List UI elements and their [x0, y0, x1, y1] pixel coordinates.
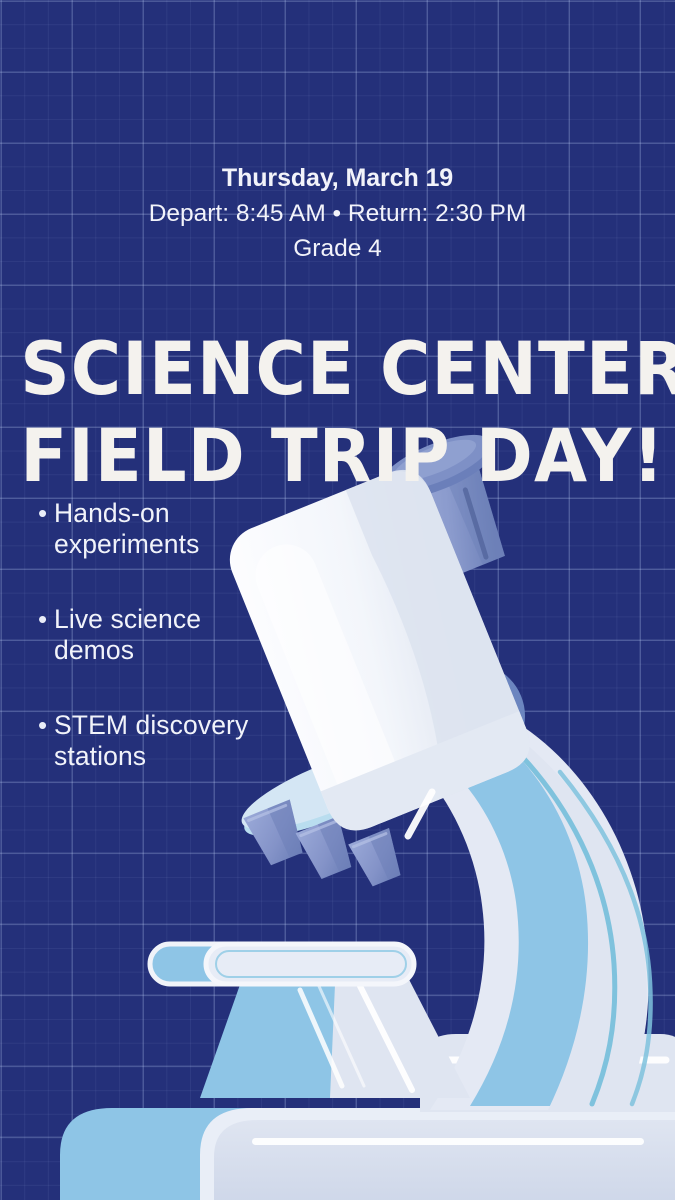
list-item-label: STEM discovery stations: [54, 710, 288, 772]
page-title-line-1: SCIENCE CENTER: [20, 326, 655, 413]
trip-grade: Grade 4: [0, 232, 675, 266]
bullet-icon: •: [38, 710, 54, 741]
poster-text-layer: Thursday, March 19 Depart: 8:45 AM • Ret…: [0, 0, 675, 1200]
trip-meta-block: Thursday, March 19 Depart: 8:45 AM • Ret…: [0, 162, 675, 266]
page-title-line-2: FIELD TRIP DAY!: [20, 413, 655, 500]
list-item: • Hands-on experiments: [38, 498, 288, 560]
list-item-label: Live science demos: [54, 604, 288, 666]
bullet-icon: •: [38, 498, 54, 529]
poster-canvas: Thursday, March 19 Depart: 8:45 AM • Ret…: [0, 0, 675, 1200]
bullet-icon: •: [38, 604, 54, 635]
list-item: • Live science demos: [38, 604, 288, 666]
list-item-label: Hands-on experiments: [54, 498, 288, 560]
page-title: SCIENCE CENTER FIELD TRIP DAY!: [20, 326, 655, 500]
list-item: • STEM discovery stations: [38, 710, 288, 772]
trip-times: Depart: 8:45 AM • Return: 2:30 PM: [0, 197, 675, 231]
trip-date: Thursday, March 19: [0, 162, 675, 196]
highlights-list: • Hands-on experiments • Live science de…: [38, 498, 288, 816]
